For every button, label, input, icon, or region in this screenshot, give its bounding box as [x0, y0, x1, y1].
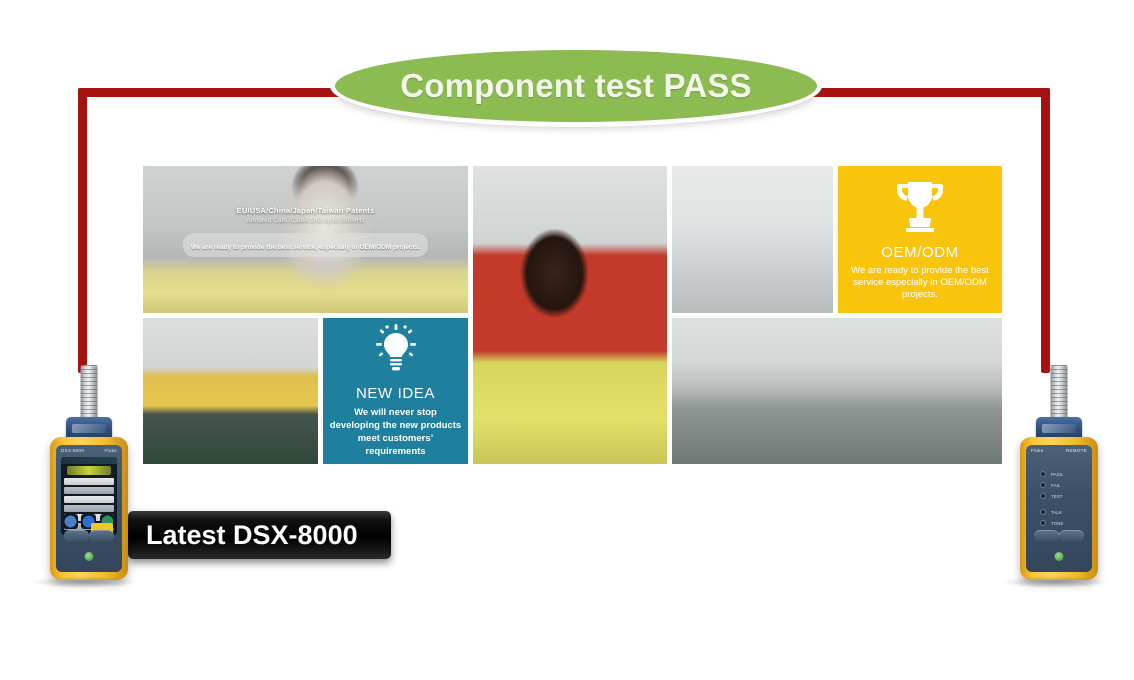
boot-ridges [1051, 365, 1068, 423]
collage-middle-column [473, 166, 667, 464]
caption-line-spec: Armored Cat6 /Cat6A 10G up to 500MHz [181, 217, 431, 224]
model-text: REMOTE [1066, 448, 1087, 453]
led-pass: PASS [1040, 471, 1063, 477]
boot-ridges [81, 365, 98, 423]
remote-button-row[interactable] [1034, 530, 1084, 542]
pass-banner: Component test PASS [335, 50, 817, 122]
led-talk: TALK [1040, 509, 1083, 515]
cable-strain-relief-boot [1051, 365, 1068, 423]
tester-screen[interactable] [61, 457, 117, 535]
pass-banner-text: Component test PASS [400, 67, 752, 105]
lightbulb-icon [373, 324, 419, 379]
collage-cell-bottom-left: NEW IDEA We will never stop developing t… [143, 318, 468, 464]
led-dot-icon [1040, 493, 1046, 499]
led-dot-icon [1040, 471, 1046, 477]
patent-caption-block: EU/USA/China/Japan/Taiwan Patents Armore… [181, 206, 431, 257]
caption-line-service: We are ready to provide the best service… [191, 244, 420, 251]
oem-odm-body: We are ready to provide the best service… [844, 265, 996, 301]
caption-pill: We are ready to provide the best service… [183, 233, 428, 257]
screen-result-row[interactable] [64, 496, 114, 503]
new-idea-panel: NEW IDEA We will never stop developing t… [323, 318, 468, 464]
wrench-icon[interactable] [63, 514, 78, 529]
remote-unit-faceplate: Fluke REMOTE PASS FAIL TEST TALK TONE LO… [1026, 445, 1092, 572]
collage-cell-top-right: OEM/ODM We are ready to provide the best… [672, 166, 1002, 313]
collage-cell-bottom-right [672, 318, 1002, 464]
brand-text: Fluke [104, 448, 117, 453]
oem-odm-title: OEM/ODM [881, 244, 959, 261]
collage-cell-middle [473, 166, 667, 464]
led-label: PASS [1051, 472, 1063, 477]
main-unit-shadow [30, 576, 138, 588]
power-led [85, 552, 94, 561]
brand-text: Fluke [1031, 448, 1044, 453]
photo-qc-bench [143, 318, 318, 464]
led-label: FAIL [1051, 483, 1060, 488]
tester-button-row[interactable] [64, 530, 114, 542]
collage-left-column: EU/USA/China/Japan/Taiwan Patents Armore… [143, 166, 468, 464]
product-name-label: Latest DSX-8000 [128, 511, 391, 559]
test-button[interactable] [1059, 530, 1084, 542]
main-unit-faceplate: DSX-8000 Fluke [56, 445, 122, 572]
led-test: TEST [1040, 493, 1063, 499]
dsx-8000-main-unit[interactable]: DSX-8000 Fluke [40, 365, 138, 580]
status-led-group-top: PASS FAIL TEST [1040, 471, 1063, 504]
led-dot-icon [1040, 509, 1046, 515]
led-label: TALK [1051, 510, 1062, 515]
screen-status-bar [61, 457, 117, 464]
collage-cell-top-left: EU/USA/China/Japan/Taiwan Patents Armore… [143, 166, 468, 313]
model-text: DSX-8000 [61, 448, 84, 453]
dsx-8000-remote-unit[interactable]: Fluke REMOTE PASS FAIL TEST TALK TONE LO… [1010, 365, 1108, 580]
caption-line-patents: EU/USA/China/Japan/Taiwan Patents [181, 206, 431, 215]
fluke-logo [72, 424, 106, 433]
led-dot-icon [1040, 482, 1046, 488]
cable-strain-relief-boot [81, 365, 98, 423]
photo-worker-red-jacket [473, 166, 667, 464]
product-name-text: Latest DSX-8000 [128, 520, 358, 551]
screen-title-bar [67, 466, 111, 475]
screen-result-row[interactable] [64, 478, 114, 485]
led-tone: TONE [1040, 520, 1083, 526]
fluke-logo [1042, 424, 1076, 433]
oem-odm-panel: OEM/ODM We are ready to provide the best… [838, 166, 1002, 313]
new-idea-title: NEW IDEA [356, 385, 435, 402]
led-label: TONE [1051, 521, 1063, 526]
red-cable-left-segment [78, 88, 87, 373]
led-fail: FAIL [1040, 482, 1063, 488]
photo-collage: EU/USA/China/Japan/Taiwan Patents Armore… [143, 166, 1007, 464]
talk-button[interactable] [1034, 530, 1059, 542]
remote-unit-shadow [1000, 576, 1108, 588]
home-button[interactable] [89, 530, 114, 542]
screen-result-row[interactable] [64, 487, 114, 494]
slide-canvas: Component test PASS EU/USA/China/Japan/T… [0, 0, 1134, 680]
main-unit-housing: DSX-8000 Fluke [50, 437, 128, 580]
red-cable-right-segment [1041, 88, 1050, 373]
photo-production-machine [672, 318, 1002, 464]
remote-unit-housing: Fluke REMOTE PASS FAIL TEST TALK TONE LO… [1020, 437, 1098, 580]
trophy-icon [892, 179, 948, 238]
photo-lab-chamber [672, 166, 833, 313]
test-button[interactable] [64, 530, 89, 542]
power-led [1055, 552, 1064, 561]
led-label: TEST [1051, 494, 1063, 499]
new-idea-body: We will never stop developing the new pr… [327, 406, 464, 458]
led-dot-icon [1040, 520, 1046, 526]
collage-right-column: OEM/ODM We are ready to provide the best… [672, 166, 1002, 464]
